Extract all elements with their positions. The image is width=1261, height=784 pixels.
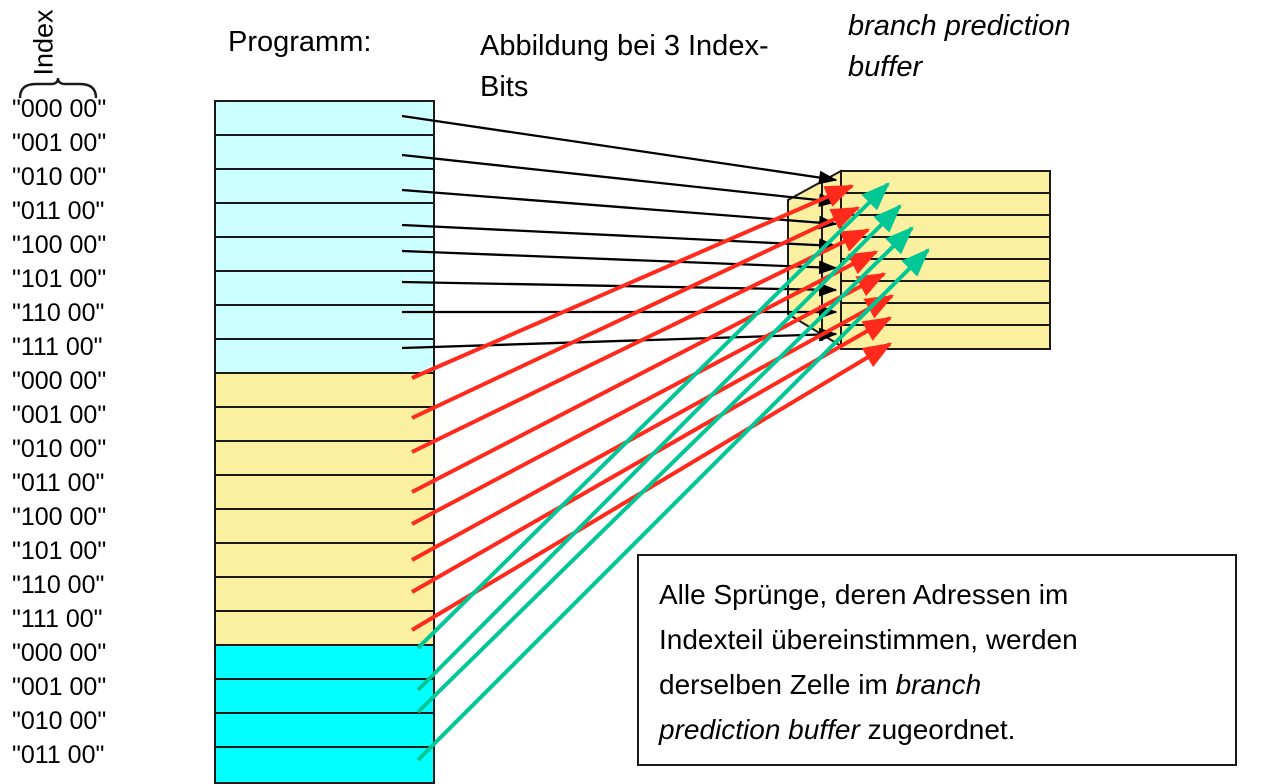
program-row[interactable] [216, 748, 433, 782]
program-row[interactable] [216, 578, 433, 612]
program-row[interactable] [216, 136, 433, 170]
buffer-row[interactable] [842, 304, 1049, 326]
program-row[interactable] [216, 170, 433, 204]
branch-prediction-buffer-table [840, 170, 1051, 350]
program-row[interactable] [216, 510, 433, 544]
red-arrow [412, 296, 892, 560]
note-line-3: derselben Zelle im branch [659, 662, 1215, 707]
program-row[interactable] [216, 238, 433, 272]
address-label: "011 00" [12, 194, 192, 228]
address-label: "110 00" [12, 296, 192, 330]
address-label: "010 00" [12, 160, 192, 194]
program-row[interactable] [216, 612, 433, 646]
program-memory-column [214, 100, 435, 784]
note-line-4-text: zugeordnet. [860, 714, 1016, 745]
red-arrow [412, 318, 890, 592]
black-mapping-arrows [402, 116, 836, 348]
address-label: "101 00" [12, 534, 192, 568]
address-label: "111 00" [12, 602, 192, 636]
note-line-2: Indexteil übereinstimmen, werden [659, 617, 1215, 662]
program-row[interactable] [216, 714, 433, 748]
address-label: "010 00" [12, 704, 192, 738]
red-arrow [412, 186, 852, 378]
buffer-row[interactable] [842, 216, 1049, 238]
buffer-row[interactable] [842, 238, 1049, 260]
black-arrow [402, 116, 836, 180]
program-title: Programm: [228, 26, 371, 59]
address-label: "101 00" [12, 262, 192, 296]
program-row[interactable] [216, 204, 433, 238]
program-row[interactable] [216, 680, 433, 714]
buffer-row[interactable] [842, 194, 1049, 216]
address-label: "100 00" [12, 500, 192, 534]
address-label: "011 00" [12, 738, 192, 772]
address-label: "000 00" [12, 92, 192, 126]
address-label: "001 00" [12, 126, 192, 160]
black-arrow [402, 334, 836, 348]
program-row[interactable] [216, 374, 433, 408]
program-row[interactable] [216, 340, 433, 374]
buffer-funnel-shape [788, 171, 841, 346]
program-row[interactable] [216, 408, 433, 442]
note-line-1: Alle Sprünge, deren Adressen im [659, 572, 1215, 617]
red-arrow [412, 208, 858, 418]
note-line-4: prediction buffer zugeordnet. [659, 707, 1215, 752]
program-row[interactable] [216, 272, 433, 306]
black-arrow [402, 155, 836, 202]
red-arrow [412, 252, 876, 492]
address-label-list: "000 00" "001 00" "010 00" "011 00" "100… [12, 92, 192, 772]
buffer-title: branch prediction buffer [848, 6, 1088, 88]
address-label: "100 00" [12, 228, 192, 262]
buffer-row[interactable] [842, 326, 1049, 348]
address-label: "001 00" [12, 398, 192, 432]
index-bracket-label: Index [0, 2, 94, 82]
buffer-row[interactable] [842, 260, 1049, 282]
black-arrow [402, 225, 836, 246]
program-row[interactable] [216, 646, 433, 680]
program-row[interactable] [216, 442, 433, 476]
address-label: "001 00" [12, 670, 192, 704]
program-row[interactable] [216, 306, 433, 340]
black-arrow [402, 282, 836, 290]
buffer-row[interactable] [842, 172, 1049, 194]
program-row[interactable] [216, 102, 433, 136]
red-arrow [412, 230, 868, 452]
address-label: "000 00" [12, 364, 192, 398]
explanation-note-box: Alle Sprünge, deren Adressen im Indextei… [637, 554, 1237, 766]
address-label: "000 00" [12, 636, 192, 670]
note-line-4-italic: prediction buffer [659, 714, 860, 745]
buffer-row[interactable] [842, 282, 1049, 304]
address-label: "111 00" [12, 330, 192, 364]
black-arrow [402, 251, 836, 268]
address-label: "011 00" [12, 466, 192, 500]
diagram-canvas: Index "000 00" "001 00" "010 00" "011 00… [0, 0, 1261, 784]
index-label-text: Index [31, 9, 58, 75]
address-label: "110 00" [12, 568, 192, 602]
program-row[interactable] [216, 544, 433, 578]
program-row[interactable] [216, 476, 433, 510]
red-arrow [412, 274, 884, 524]
address-label: "010 00" [12, 432, 192, 466]
note-line-3-text: derselben Zelle im [659, 669, 896, 700]
mapping-title: Abbildung bei 3 Index-Bits [480, 26, 780, 108]
black-arrow [402, 190, 836, 224]
note-line-3-italic: branch [896, 669, 982, 700]
